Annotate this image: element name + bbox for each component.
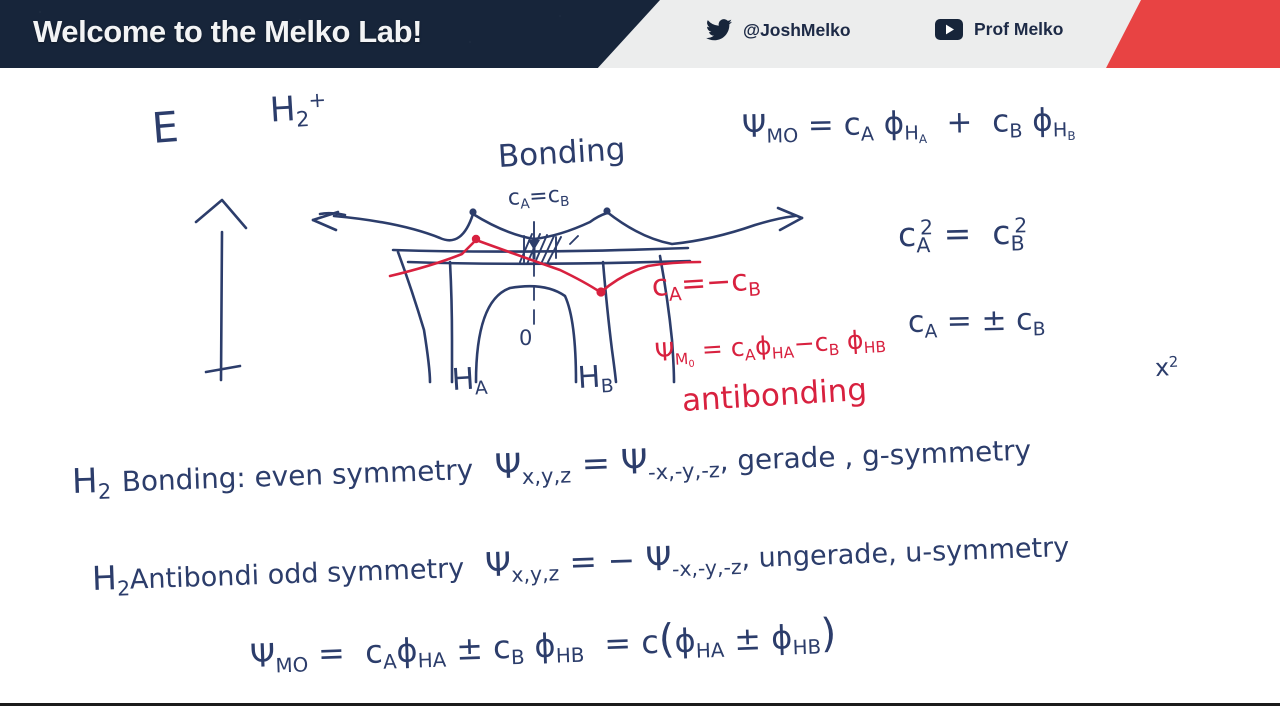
header-red-accent — [1105, 0, 1280, 70]
coeff-eq-sign: = — [529, 184, 549, 210]
bottom-border-strip — [0, 703, 1280, 720]
origin-label: 0 — [519, 328, 532, 349]
line2-h: H — [91, 558, 117, 598]
line1-h-sub: 2 — [97, 478, 111, 503]
cb-base: c — [547, 183, 561, 209]
line1-h: H — [71, 461, 98, 502]
atom-b-label: HB — [577, 362, 614, 399]
c-plus-minus-equation: cA = ± cB — [908, 305, 1046, 342]
molecule-label-sup: + — [308, 87, 327, 113]
atom-a-base: H — [451, 362, 476, 398]
twitter-icon — [706, 19, 732, 41]
x-squared-note: x2 — [1154, 355, 1179, 381]
c-squared-equation: cA2 = cB2 — [898, 215, 1028, 256]
coefficient-equality-label: cA=cB — [507, 184, 570, 213]
ca-base: c — [507, 185, 521, 211]
molecule-label: H2+ — [269, 89, 328, 132]
line2-h-sub: 2 — [117, 576, 131, 600]
energy-axis-label: E — [150, 106, 180, 150]
psi-mo-bonding-equation: ΨMO = cA ϕHA + cB ϕHB — [742, 105, 1076, 150]
page-title: Welcome to the Melko Lab! — [33, 14, 422, 50]
bonding-label: Bonding — [497, 134, 626, 173]
whiteboard-area — [0, 70, 1280, 703]
atom-a-label: HA — [451, 364, 488, 401]
slide-canvas: Welcome to the Melko Lab! @JoshMelko Pro… — [0, 0, 1280, 720]
twitter-handle-group[interactable]: @JoshMelko — [706, 19, 851, 41]
slide-header: Welcome to the Melko Lab! @JoshMelko Pro… — [0, 0, 1280, 70]
cb-sub: B — [560, 194, 570, 211]
twitter-handle-label: @JoshMelko — [743, 20, 851, 41]
youtube-handle-group[interactable]: Prof Melko — [935, 19, 1063, 40]
atom-b-base: H — [577, 360, 602, 396]
atom-a-sub: A — [474, 378, 488, 400]
molecule-label-base: H — [269, 89, 297, 130]
youtube-icon — [935, 19, 963, 40]
atom-b-sub: B — [600, 376, 614, 398]
youtube-channel-label: Prof Melko — [974, 19, 1063, 40]
red-coefficient-opposite: cA=−cB — [651, 265, 762, 306]
